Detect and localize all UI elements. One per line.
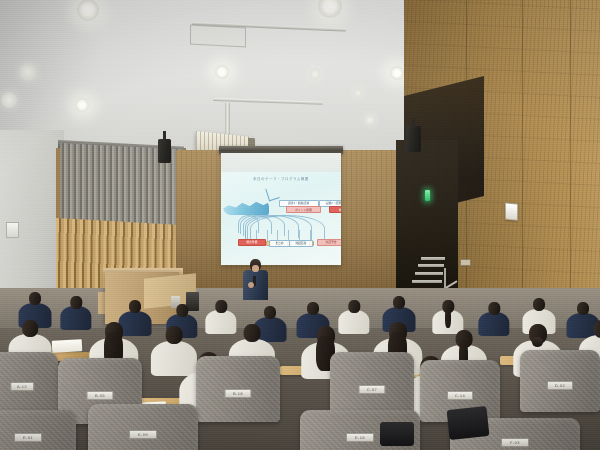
ceiling-downlight xyxy=(77,0,99,21)
person-head xyxy=(264,306,276,319)
slide-red-bar: ポイント整理 xyxy=(286,206,321,213)
person-head xyxy=(488,302,499,315)
light-switch-plate[interactable] xyxy=(6,222,19,238)
handrail-post xyxy=(444,268,446,288)
projected-slide: 本日のテーマ・プログラム概要 調査1・観察記録実験2・結果の取りまとめポイント整… xyxy=(221,172,341,265)
presenter-hand xyxy=(248,282,254,288)
ceiling-downlight xyxy=(1,92,17,108)
slide-red-bar: 重要項目 xyxy=(329,206,341,213)
seat-number-tag: B-18 xyxy=(224,389,251,398)
seat-number-tag: F-03 xyxy=(501,438,529,447)
auditorium-seat[interactable]: B-18 xyxy=(196,356,280,422)
wood-panel-seam xyxy=(522,0,523,320)
lecture-hall-photo: 本日のテーマ・プログラム概要 調査1・観察記録実験2・結果の取りまとめポイント整… xyxy=(0,0,600,450)
speaker-right xyxy=(406,126,421,152)
person-head xyxy=(29,292,41,305)
slide-bottom-box: 質疑応答 xyxy=(289,240,312,247)
mountain-wave-graphic xyxy=(223,199,269,215)
seat-number-tag: E-01 xyxy=(14,433,42,442)
slide-tick xyxy=(267,230,268,241)
auditorium-seat[interactable]: E-01 xyxy=(0,410,76,450)
auditorium-seat[interactable]: C-07 xyxy=(330,352,414,418)
person-head xyxy=(22,320,38,337)
person-head xyxy=(176,304,187,317)
stair-step xyxy=(412,280,442,283)
seat-fabric-texture xyxy=(88,404,198,450)
seat-fabric-texture xyxy=(0,410,76,450)
presenter-face xyxy=(252,265,259,272)
seat-number-tag: C-07 xyxy=(358,385,385,394)
person-head xyxy=(215,300,226,313)
person-head xyxy=(129,300,141,313)
stair-step xyxy=(418,264,444,267)
peak-marker-icon xyxy=(265,186,279,202)
handout-paper xyxy=(52,339,83,353)
ceiling-downlight xyxy=(318,0,342,18)
ceiling-downlight xyxy=(215,65,229,79)
projection-screen: 本日のテーマ・プログラム概要 調査1・観察記録実験2・結果の取りまとめポイント整… xyxy=(221,153,341,265)
person-head xyxy=(393,296,405,309)
ceiling-air-vent xyxy=(190,25,246,48)
seat-number-tag: E-16 xyxy=(346,433,374,442)
slide-bottom-box: 次回予告 xyxy=(317,239,341,246)
slide-bottom-box: 発表準備 xyxy=(238,239,266,246)
ceiling-downlight xyxy=(354,89,362,97)
ceiling-downlight xyxy=(390,66,404,80)
wall-mounted-device[interactable] xyxy=(505,202,518,220)
seat-number-tag: A-12 xyxy=(10,382,34,391)
wood-panel-seam xyxy=(570,0,571,330)
person-head xyxy=(243,324,260,342)
seat-number-tag: E-09 xyxy=(129,430,157,439)
ceiling-downlight xyxy=(75,98,89,112)
wall-outlet[interactable] xyxy=(460,259,471,266)
screen-blank-area xyxy=(221,153,341,173)
person-hair-bun xyxy=(532,337,542,346)
person-head xyxy=(70,296,81,309)
emergency-exit-sign xyxy=(425,190,430,201)
ceiling-downlight xyxy=(365,115,375,125)
seat-number-tag: B-05 xyxy=(86,391,113,400)
seat-number-tag: D-02 xyxy=(547,381,573,390)
ceiling-downlight xyxy=(19,63,37,81)
auditorium-seat[interactable]: E-09 xyxy=(88,404,198,450)
auditorium-seat[interactable]: A-12 xyxy=(0,352,58,412)
person-head xyxy=(307,302,319,315)
student-bag xyxy=(380,422,414,446)
speaker-left xyxy=(158,139,171,163)
person-head xyxy=(348,300,359,313)
ceiling-downlight xyxy=(309,68,321,80)
stair-step xyxy=(421,257,445,260)
student-bag xyxy=(447,406,490,440)
stair-step xyxy=(415,272,443,275)
auditorium-seat[interactable]: D-02 xyxy=(520,350,600,412)
person-head xyxy=(577,302,589,315)
person-head xyxy=(533,298,545,311)
slide-title: 本日のテーマ・プログラム概要 xyxy=(221,176,341,181)
person-head xyxy=(165,326,182,344)
slide-bottom-box: まとめ xyxy=(269,240,290,247)
seat-number-tag: C-14 xyxy=(447,391,473,400)
person-long-hair xyxy=(445,307,451,329)
